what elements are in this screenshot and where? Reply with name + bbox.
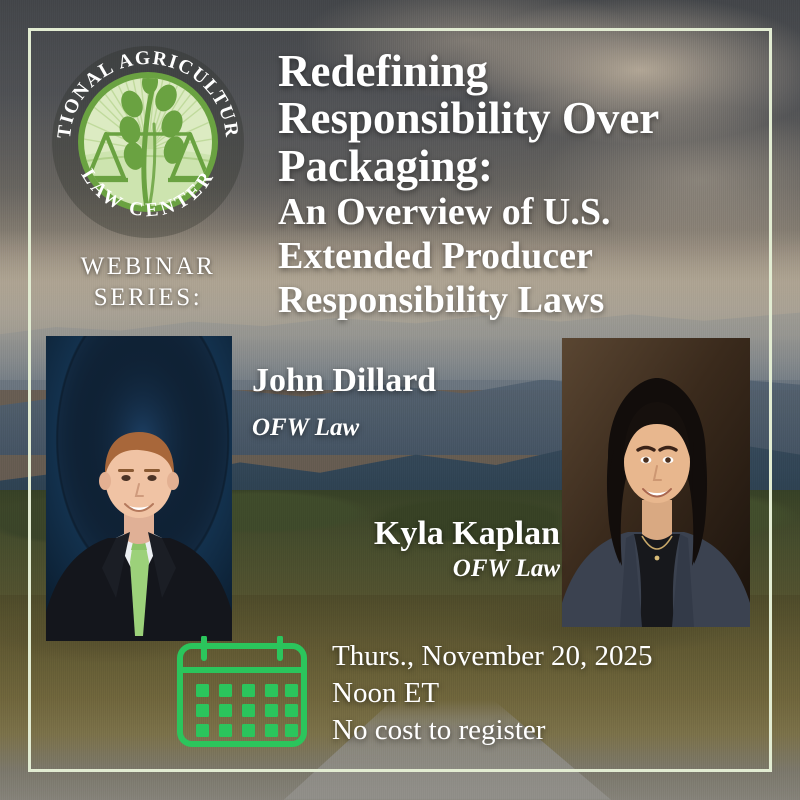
title-line-1: Redefining <box>278 48 776 95</box>
webinar-series-line-1: WEBINAR <box>44 252 252 283</box>
speaker-1-org: OFW Law <box>252 414 436 443</box>
event-cost: No cost to register <box>332 712 653 749</box>
subtitle-line-3: Responsibility Laws <box>278 280 776 322</box>
event-details: Thurs., November 20, 2025 Noon ET No cos… <box>332 638 653 749</box>
subtitle-line-1: An Overview of U.S. <box>278 192 776 234</box>
speaker-2-block: Kyla Kaplan OFW Law <box>330 515 560 584</box>
event-date: Thurs., November 20, 2025 <box>332 638 653 675</box>
speaker-photo-kyla-kaplan <box>562 338 750 627</box>
title-line-2: Responsibility Over <box>278 95 776 142</box>
webinar-promo-poster: NATIONAL AGRICULTURAL LAW CENTER WEBINAR… <box>0 0 800 800</box>
speaker-1-name: John Dillard <box>252 362 436 400</box>
event-time: Noon ET <box>332 675 653 712</box>
speaker-2-org: OFW Law <box>330 555 560 584</box>
subtitle-line-2: Extended Producer <box>278 236 776 278</box>
speaker-1-block: John Dillard OFW Law <box>252 362 436 443</box>
webinar-series-line-2: SERIES: <box>44 283 252 314</box>
calendar-icon <box>172 636 312 748</box>
speaker-photo-john-dillard <box>46 336 232 641</box>
webinar-series-label: WEBINAR SERIES: <box>44 252 252 313</box>
title-line-3: Packaging: <box>278 143 776 190</box>
nalc-logo: NATIONAL AGRICULTURAL LAW CENTER <box>44 38 252 246</box>
speaker-2-name: Kyla Kaplan <box>330 515 560 553</box>
webinar-title: Redefining Responsibility Over Packaging… <box>278 48 776 322</box>
